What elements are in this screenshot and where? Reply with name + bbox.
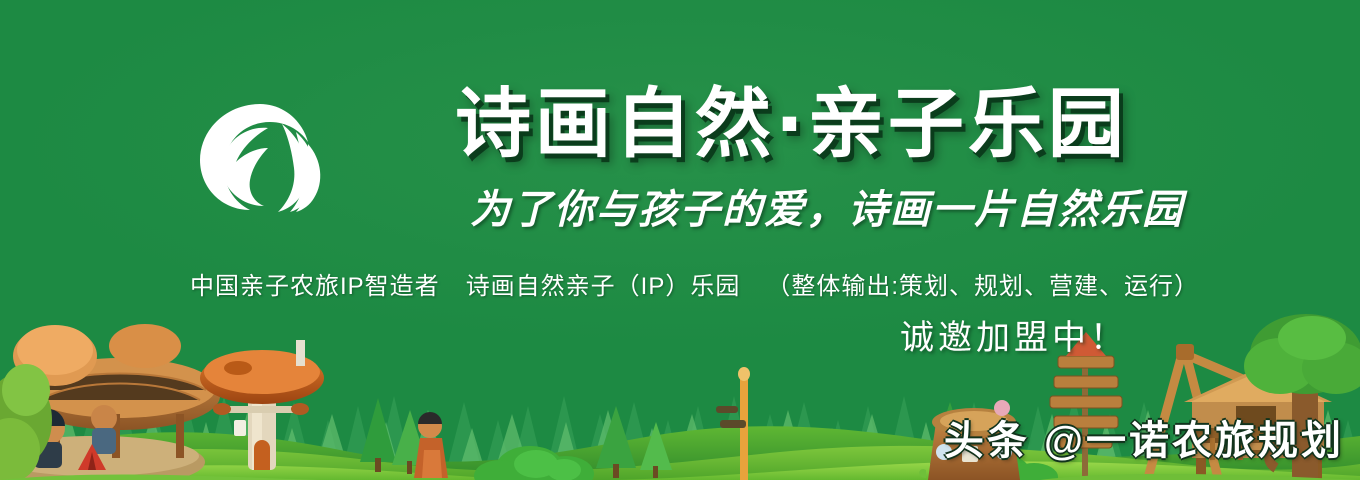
banner-content: 诗画自然·亲子乐园 为了你与孩子的爱，诗画一片自然乐园 中国亲子农旅IP智造者 … xyxy=(0,0,1360,480)
info-line: 中国亲子农旅IP智造者 诗画自然亲子（IP）乐园 （整体输出:策划、规划、营建、… xyxy=(190,266,1199,301)
call-to-action-text: 诚邀加盟中！ xyxy=(900,310,1128,359)
page-title: 诗画自然·亲子乐园 xyxy=(455,86,1128,162)
info-segment-product: 诗画自然亲子（IP）乐园 xyxy=(466,266,741,301)
promo-banner: 诗画自然·亲子乐园 为了你与孩子的爱，诗画一片自然乐园 中国亲子农旅IP智造者 … xyxy=(0,0,1360,480)
watermark: 头条 @一诺农旅规划 xyxy=(944,408,1344,466)
info-segment-services: （整体输出:策划、规划、营建、运行） xyxy=(766,266,1199,301)
eagle-wave-logo-icon xyxy=(190,98,330,216)
page-subtitle: 为了你与孩子的爱，诗画一片自然乐园 xyxy=(470,190,1184,230)
info-segment-brand: 中国亲子农旅IP智造者 xyxy=(190,266,440,301)
